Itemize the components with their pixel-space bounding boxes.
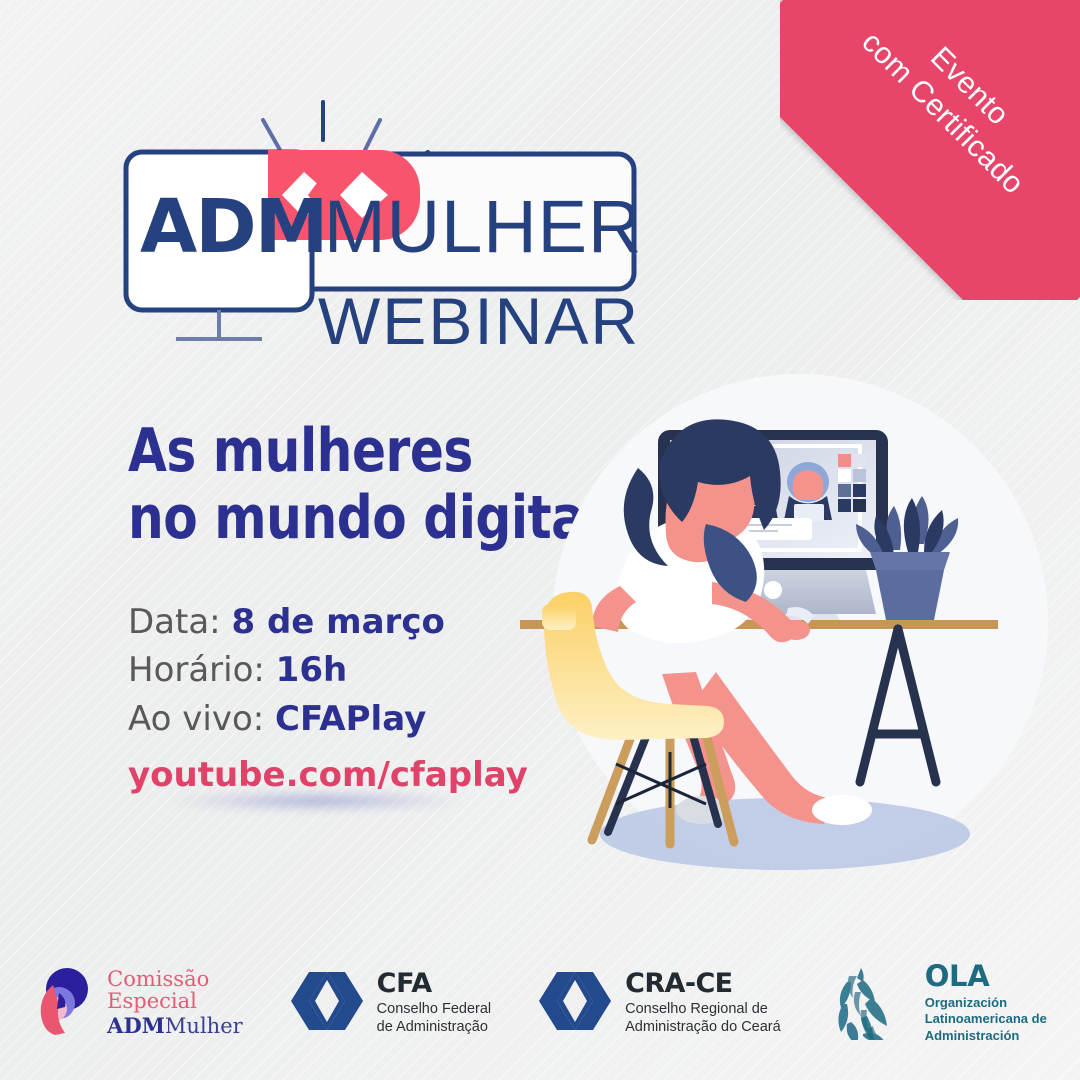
logo-cra-ce: CRA-CE Conselho Regional de Administraçã… — [537, 966, 781, 1041]
cra-ce-subtitle: Conselho Regional de Administração do Ce… — [625, 1001, 781, 1037]
cra-ce-sub-line-2: Administração do Ceará — [625, 1019, 781, 1035]
url-shadow-ellipse — [168, 792, 468, 810]
logo-comissao-especial-adm-mulher: Comissão Especial ADMMulher — [33, 965, 243, 1042]
woman-at-desk-illustration — [520, 372, 1060, 882]
detail-value-time: 16h — [276, 650, 348, 690]
comissao-line-1: Comissão — [107, 968, 243, 991]
ola-acronym: OLA — [925, 962, 1047, 991]
detail-value-live: CFAPlay — [275, 699, 426, 739]
shoe-right — [812, 795, 872, 825]
cfa-sub-line-1: Conselho Federal — [377, 1001, 491, 1017]
svg-text:WEBINAR: WEBINAR — [318, 284, 640, 358]
cfa-sub-line-2: de Administração — [377, 1019, 488, 1035]
comissao-mulher: Mulher — [165, 1014, 243, 1038]
comissao-adm: ADM — [107, 1013, 165, 1038]
detail-value-date: 8 de março — [231, 602, 444, 642]
comissao-text-block: Comissão Especial ADMMulher — [107, 968, 243, 1038]
screen-figure-right — [784, 462, 832, 522]
detail-row-live: Ao vivo: CFAPlay — [128, 695, 528, 743]
detail-row-time: Horário: 16h — [128, 646, 528, 694]
detail-row-date: Data: 8 de março — [128, 598, 528, 646]
americas-laurel-icon — [827, 962, 913, 1045]
logo-ola: OLA Organización Latinoamericana de Admi… — [827, 962, 1047, 1045]
cra-ce-text-block: CRA-CE Conselho Regional de Administraçã… — [625, 970, 781, 1037]
ola-text-block: OLA Organización Latinoamericana de Admi… — [925, 962, 1047, 1043]
certificate-ribbon: Evento com Certificado — [780, 0, 1080, 300]
svg-text:MULHER: MULHER — [324, 185, 642, 268]
event-details: Data: 8 de março Horário: 16h Ao vivo: C… — [128, 598, 528, 795]
adm-mulher-webinar-logo: ADM MULHER WEBINAR — [118, 92, 648, 362]
poster-canvas: Evento com Certificado — [0, 0, 1080, 1080]
detail-label-live: Ao vivo: — [128, 699, 275, 739]
comissao-line-2: Especial — [107, 990, 243, 1013]
cfa-bowtie-icon — [537, 966, 613, 1041]
logo-cfa: CFA Conselho Federal de Administração — [289, 966, 491, 1041]
woman-face-circles-icon — [33, 965, 95, 1042]
partner-logos-row: Comissão Especial ADMMulher CFA Conselho… — [0, 948, 1080, 1058]
ola-sub-line-2: Latinoamericana de — [925, 1011, 1047, 1026]
cfa-bowtie-icon — [289, 966, 365, 1041]
cfa-text-block: CFA Conselho Federal de Administração — [377, 970, 491, 1037]
cfa-subtitle: Conselho Federal de Administração — [377, 1001, 491, 1037]
youtube-url-link[interactable]: youtube.com/cfaplay — [128, 755, 528, 795]
cfa-acronym: CFA — [377, 970, 491, 997]
ola-sub-line-3: Administración — [925, 1028, 1020, 1043]
detail-label-date: Data: — [128, 602, 231, 642]
svg-text:ADM: ADM — [140, 184, 326, 270]
cra-ce-acronym: CRA-CE — [625, 970, 781, 997]
cra-ce-sub-line-1: Conselho Regional de — [625, 1001, 768, 1017]
ola-subtitle: Organización Latinoamericana de Administ… — [925, 995, 1047, 1043]
comissao-line-3: ADMMulher — [107, 1014, 243, 1038]
detail-label-time: Horário: — [128, 650, 276, 690]
ola-sub-line-1: Organización — [925, 995, 1007, 1010]
